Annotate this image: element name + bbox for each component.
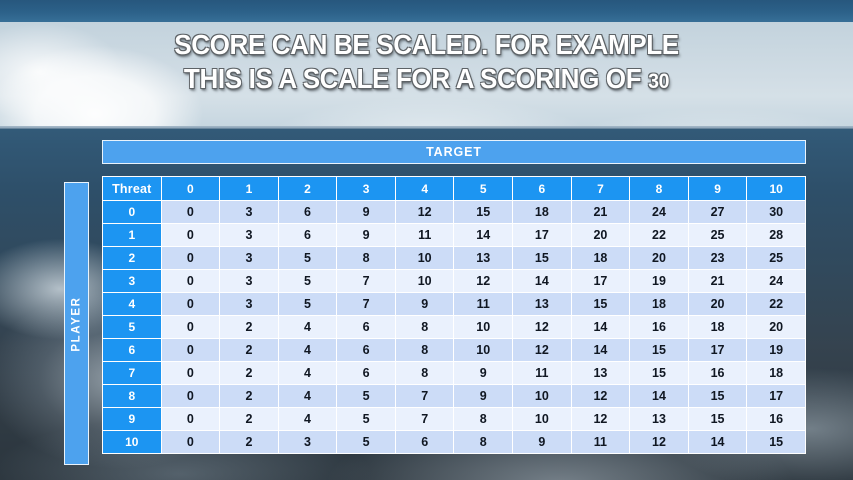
cell-r5-c6: 12 (513, 316, 572, 339)
row-header-4: 4 (103, 293, 162, 316)
slide-title: SCORE CAN BE SCALED. FOR EXAMPLE THIS IS… (0, 28, 853, 99)
cell-r2-c3: 8 (337, 247, 396, 270)
cell-r3-c2: 5 (278, 270, 337, 293)
table-corner-header: Threat (103, 177, 162, 201)
cell-r1-c6: 17 (513, 224, 572, 247)
cell-r1-c8: 22 (630, 224, 689, 247)
cell-r5-c5: 10 (454, 316, 513, 339)
table-header-row: Threat012345678910 (103, 177, 806, 201)
cell-r1-c5: 14 (454, 224, 513, 247)
cell-r6-c10: 19 (747, 339, 806, 362)
cell-r2-c2: 5 (278, 247, 337, 270)
row-header-10: 10 (103, 431, 162, 454)
cell-r0-c8: 24 (630, 201, 689, 224)
cell-r5-c4: 8 (395, 316, 454, 339)
cell-r0-c1: 3 (220, 201, 279, 224)
row-header-2: 2 (103, 247, 162, 270)
cell-r5-c7: 14 (571, 316, 630, 339)
row-header-6: 6 (103, 339, 162, 362)
cell-r1-c7: 20 (571, 224, 630, 247)
row-header-7: 7 (103, 362, 162, 385)
cell-r0-c5: 15 (454, 201, 513, 224)
cell-r8-c8: 14 (630, 385, 689, 408)
cell-r9-c8: 13 (630, 408, 689, 431)
cell-r0-c2: 6 (278, 201, 337, 224)
cell-r10-c8: 12 (630, 431, 689, 454)
cell-r7-c8: 15 (630, 362, 689, 385)
cell-r4-c9: 20 (688, 293, 747, 316)
cell-r2-c8: 20 (630, 247, 689, 270)
sky-top-band (0, 0, 853, 22)
cell-r5-c8: 16 (630, 316, 689, 339)
cell-r10-c5: 8 (454, 431, 513, 454)
cell-r9-c7: 12 (571, 408, 630, 431)
cell-r10-c9: 14 (688, 431, 747, 454)
cell-r0-c7: 21 (571, 201, 630, 224)
cell-r9-c1: 2 (220, 408, 279, 431)
cell-r2-c5: 13 (454, 247, 513, 270)
cell-r3-c1: 3 (220, 270, 279, 293)
cell-r0-c4: 12 (395, 201, 454, 224)
cell-r5-c9: 18 (688, 316, 747, 339)
column-header-0: 0 (161, 177, 220, 201)
table-row: 80245791012141517 (103, 385, 806, 408)
cell-r2-c4: 10 (395, 247, 454, 270)
cell-r0-c3: 9 (337, 201, 396, 224)
cell-r3-c8: 19 (630, 270, 689, 293)
cell-r4-c2: 5 (278, 293, 337, 316)
cell-r1-c10: 28 (747, 224, 806, 247)
row-header-5: 5 (103, 316, 162, 339)
cell-r10-c7: 11 (571, 431, 630, 454)
cell-r9-c2: 4 (278, 408, 337, 431)
cell-r4-c10: 22 (747, 293, 806, 316)
table-row: 70246891113151618 (103, 362, 806, 385)
cell-r8-c10: 17 (747, 385, 806, 408)
cell-r8-c7: 12 (571, 385, 630, 408)
cell-r6-c1: 2 (220, 339, 279, 362)
score-scale-table: Threat0123456789100036912151821242730103… (102, 176, 806, 454)
cell-r0-c6: 18 (513, 201, 572, 224)
column-header-3: 3 (337, 177, 396, 201)
cell-r4-c6: 13 (513, 293, 572, 316)
cell-r9-c9: 15 (688, 408, 747, 431)
table-row: 10023568911121415 (103, 431, 806, 454)
table-row: 3035710121417192124 (103, 270, 806, 293)
cell-r4-c1: 3 (220, 293, 279, 316)
row-header-0: 0 (103, 201, 162, 224)
column-header-10: 10 (747, 177, 806, 201)
table-row: 0036912151821242730 (103, 201, 806, 224)
column-header-2: 2 (278, 177, 337, 201)
cell-r2-c10: 25 (747, 247, 806, 270)
cell-r7-c10: 18 (747, 362, 806, 385)
slide-canvas: SCORE CAN BE SCALED. FOR EXAMPLE THIS IS… (0, 0, 853, 480)
cell-r10-c2: 3 (278, 431, 337, 454)
cell-r5-c10: 20 (747, 316, 806, 339)
cell-r3-c5: 12 (454, 270, 513, 293)
cell-r2-c0: 0 (161, 247, 220, 270)
cell-r0-c0: 0 (161, 201, 220, 224)
row-header-3: 3 (103, 270, 162, 293)
cell-r6-c8: 15 (630, 339, 689, 362)
cell-r7-c2: 4 (278, 362, 337, 385)
cell-r1-c3: 9 (337, 224, 396, 247)
table-row: 602468101214151719 (103, 339, 806, 362)
cell-r4-c4: 9 (395, 293, 454, 316)
cell-r6-c5: 10 (454, 339, 513, 362)
cell-r10-c1: 2 (220, 431, 279, 454)
row-header-8: 8 (103, 385, 162, 408)
cell-r7-c1: 2 (220, 362, 279, 385)
cell-r5-c0: 0 (161, 316, 220, 339)
cell-r1-c0: 0 (161, 224, 220, 247)
cell-r3-c9: 21 (688, 270, 747, 293)
table-row: 1036911141720222528 (103, 224, 806, 247)
cell-r3-c10: 24 (747, 270, 806, 293)
cell-r0-c10: 30 (747, 201, 806, 224)
cell-r1-c2: 6 (278, 224, 337, 247)
cell-r1-c9: 25 (688, 224, 747, 247)
cell-r10-c10: 15 (747, 431, 806, 454)
column-header-8: 8 (630, 177, 689, 201)
cell-r3-c4: 10 (395, 270, 454, 293)
cell-r7-c0: 0 (161, 362, 220, 385)
cell-r7-c3: 6 (337, 362, 396, 385)
cell-r2-c6: 15 (513, 247, 572, 270)
cell-r8-c5: 9 (454, 385, 513, 408)
table-row: 2035810131518202325 (103, 247, 806, 270)
cell-r9-c3: 5 (337, 408, 396, 431)
cell-r8-c0: 0 (161, 385, 220, 408)
title-line-2: THIS IS A SCALE FOR A SCORING OF 30 (30, 62, 823, 99)
title-line-2-text: THIS IS A SCALE FOR A SCORING OF (184, 63, 648, 94)
cell-r8-c3: 5 (337, 385, 396, 408)
cell-r3-c3: 7 (337, 270, 396, 293)
cell-r0-c9: 27 (688, 201, 747, 224)
table-row: 502468101214161820 (103, 316, 806, 339)
cell-r6-c3: 6 (337, 339, 396, 362)
cell-r8-c9: 15 (688, 385, 747, 408)
column-header-6: 6 (513, 177, 572, 201)
cell-r6-c0: 0 (161, 339, 220, 362)
cell-r7-c4: 8 (395, 362, 454, 385)
cell-r9-c6: 10 (513, 408, 572, 431)
cell-r5-c2: 4 (278, 316, 337, 339)
cell-r1-c4: 11 (395, 224, 454, 247)
cell-r4-c3: 7 (337, 293, 396, 316)
cell-r4-c5: 11 (454, 293, 513, 316)
cell-r5-c3: 6 (337, 316, 396, 339)
cell-r7-c6: 11 (513, 362, 572, 385)
row-header-9: 9 (103, 408, 162, 431)
column-header-9: 9 (688, 177, 747, 201)
cell-r2-c1: 3 (220, 247, 279, 270)
cell-r7-c7: 13 (571, 362, 630, 385)
target-axis-label-text: TARGET (426, 145, 482, 159)
column-header-5: 5 (454, 177, 513, 201)
cell-r2-c7: 18 (571, 247, 630, 270)
cell-r6-c9: 17 (688, 339, 747, 362)
cell-r6-c7: 14 (571, 339, 630, 362)
score-scale-table-body: Threat0123456789100036912151821242730103… (103, 177, 806, 454)
cell-r8-c1: 2 (220, 385, 279, 408)
cell-r5-c1: 2 (220, 316, 279, 339)
cell-r8-c2: 4 (278, 385, 337, 408)
cell-r1-c1: 3 (220, 224, 279, 247)
cell-r6-c4: 8 (395, 339, 454, 362)
cell-r8-c6: 10 (513, 385, 572, 408)
cell-r3-c6: 14 (513, 270, 572, 293)
row-header-1: 1 (103, 224, 162, 247)
column-header-7: 7 (571, 177, 630, 201)
cell-r6-c6: 12 (513, 339, 572, 362)
target-axis-label: TARGET (102, 140, 806, 164)
cell-r10-c0: 0 (161, 431, 220, 454)
column-header-1: 1 (220, 177, 279, 201)
column-header-4: 4 (395, 177, 454, 201)
cell-r3-c7: 17 (571, 270, 630, 293)
cell-r7-c5: 9 (454, 362, 513, 385)
cell-r9-c5: 8 (454, 408, 513, 431)
cell-r3-c0: 0 (161, 270, 220, 293)
table-row: 90245781012131516 (103, 408, 806, 431)
cell-r4-c7: 15 (571, 293, 630, 316)
cell-r10-c3: 5 (337, 431, 396, 454)
cell-r10-c4: 6 (395, 431, 454, 454)
player-axis-label-text: PLAYER (71, 296, 83, 351)
cell-r7-c9: 16 (688, 362, 747, 385)
cell-r8-c4: 7 (395, 385, 454, 408)
player-axis-label: PLAYER (64, 182, 89, 465)
title-line-1: SCORE CAN BE SCALED. FOR EXAMPLE (30, 28, 823, 62)
title-scoring-number: 30 (648, 70, 669, 93)
cell-r9-c4: 7 (395, 408, 454, 431)
cell-r9-c10: 16 (747, 408, 806, 431)
table-row: 403579111315182022 (103, 293, 806, 316)
cell-r4-c0: 0 (161, 293, 220, 316)
cell-r2-c9: 23 (688, 247, 747, 270)
cell-r10-c6: 9 (513, 431, 572, 454)
cell-r6-c2: 4 (278, 339, 337, 362)
cell-r9-c0: 0 (161, 408, 220, 431)
cell-r4-c8: 18 (630, 293, 689, 316)
